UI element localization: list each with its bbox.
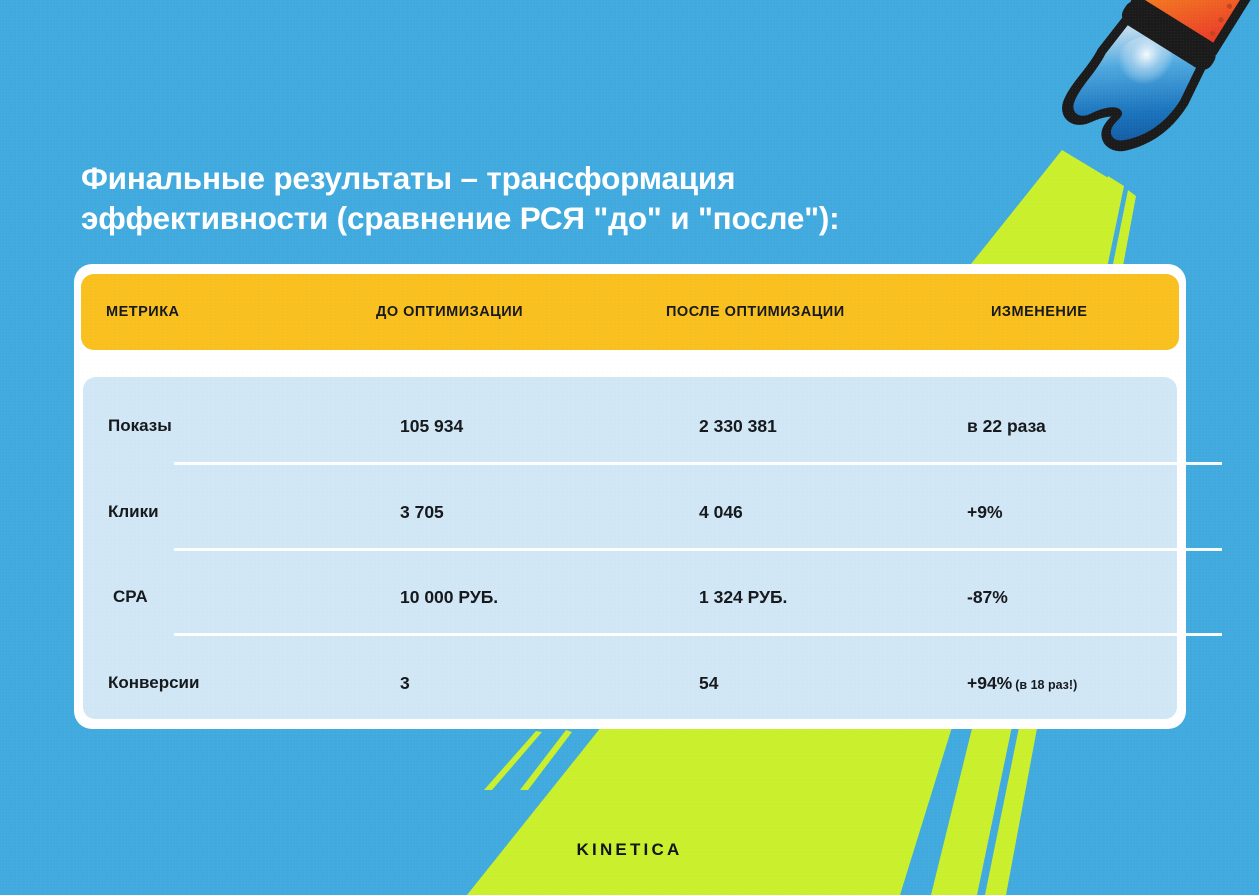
column-header-after: ПОСЛЕ ОПТИМИЗАЦИИ xyxy=(666,304,845,320)
page-title: Финальные результаты – трансформация эфф… xyxy=(81,158,981,238)
row-change-value: -87% xyxy=(967,587,1008,608)
rocket-body xyxy=(1137,0,1259,49)
table-row: Клики 3 705 4 046 +9% xyxy=(83,463,1177,549)
table-row: Показы 105 934 2 330 381 в 22 раза xyxy=(83,377,1177,463)
comparison-table-card: МЕТРИКА ДО ОПТИМИЗАЦИИ ПОСЛЕ ОПТИМИЗАЦИИ… xyxy=(74,264,1186,729)
row-metric-label: Конверсии xyxy=(108,673,199,693)
row-after-value: 1 324 РУБ. xyxy=(699,587,787,608)
row-before-value: 105 934 xyxy=(400,416,463,437)
row-change-value: +94%(в 18 раз!) xyxy=(967,673,1077,694)
sliver-a xyxy=(520,730,572,790)
row-after-value: 2 330 381 xyxy=(699,416,777,437)
row-change-main: +94% xyxy=(967,673,1012,693)
brand-logo: KINETICA xyxy=(0,840,1259,860)
column-header-change: ИЗМЕНЕНИЕ xyxy=(991,304,1087,320)
page-title-line-2: эффективности (сравнение РСЯ "до" и "пос… xyxy=(81,198,981,238)
table-body: Показы 105 934 2 330 381 в 22 раза Клики… xyxy=(83,377,1177,719)
flame-icon xyxy=(1064,19,1202,162)
row-metric-label: Клики xyxy=(108,502,159,522)
row-metric-label: Показы xyxy=(108,416,172,436)
table-row: Конверсии 3 54 +94%(в 18 раз!) xyxy=(83,634,1177,720)
rocket-nozzle xyxy=(1118,0,1220,74)
sliver-b xyxy=(484,731,542,790)
row-after-value: 54 xyxy=(699,673,718,694)
column-header-before: ДО ОПТИМИЗАЦИИ xyxy=(376,304,523,320)
table-row: CPA 10 000 РУБ. 1 324 РУБ. -87% xyxy=(83,548,1177,634)
row-after-value: 4 046 xyxy=(699,502,743,523)
table-header-row: МЕТРИКА ДО ОПТИМИЗАЦИИ ПОСЛЕ ОПТИМИЗАЦИИ… xyxy=(81,274,1179,350)
row-change-value: в 22 раза xyxy=(967,416,1046,437)
page-title-line-1: Финальные результаты – трансформация xyxy=(81,158,981,198)
row-change-note: (в 18 раз!) xyxy=(1015,678,1077,692)
infographic-slide: { "palette": { "background": "#41aade", … xyxy=(0,0,1259,895)
row-before-value: 3 705 xyxy=(400,502,444,523)
rocket-icon xyxy=(1016,0,1259,182)
row-change-value: +9% xyxy=(967,502,1003,523)
rocket-rivets xyxy=(1150,0,1259,37)
column-header-metric: МЕТРИКА xyxy=(106,304,180,320)
row-metric-label: CPA xyxy=(113,587,148,607)
row-before-value: 3 xyxy=(400,673,410,694)
row-before-value: 10 000 РУБ. xyxy=(400,587,498,608)
